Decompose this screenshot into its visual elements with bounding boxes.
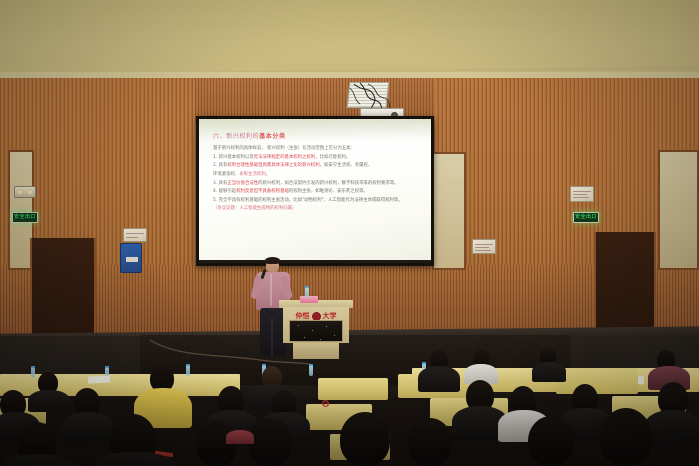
- paper-sheet: [88, 375, 110, 383]
- audience-head-foreground: [340, 412, 390, 466]
- water-bottle: [305, 286, 309, 298]
- exit-sign-right: 安全出口: [573, 212, 599, 223]
- seat-number-badge: 29: [322, 400, 329, 407]
- slide-line: 环境紧张权、表彰生活权利。: [213, 171, 421, 178]
- wall-notice-right: [570, 186, 594, 202]
- audience-shoulders: [28, 390, 70, 412]
- blue-wall-sign: [120, 243, 142, 273]
- emergency-lamp-bulb: [27, 189, 33, 195]
- projector-mount: [344, 82, 406, 118]
- audience-head-foreground: [528, 416, 574, 466]
- slide-line: 4. 能够引起权利反思但不具备权利基础的权利主张，如唯测论、安乐死之权等。: [213, 188, 421, 195]
- slide-line: 1. 新兴基本权利以及宪法法律规定的基本权利之权利，比如迁徙权利。: [213, 154, 421, 161]
- audience-head-foreground: [248, 418, 292, 466]
- door-center-right[interactable]: [432, 152, 466, 270]
- audience-head-foreground: [600, 408, 652, 466]
- water-bottle: [31, 366, 35, 378]
- emergency-light-left: [14, 186, 36, 198]
- slide-line: 2. 具有权利合理性基础但尚需具体法律之化的新兴权利，如安宁生活权、亲属权、: [213, 162, 421, 169]
- slide-line: 3. 具有正当价值合法性的新兴权利，如合法契约引发的新兴权利，数字科技带来的权利…: [213, 180, 421, 187]
- seat-row[interactable]: [318, 378, 388, 400]
- seat-row[interactable]: [556, 368, 638, 394]
- audience-shoulders: [62, 412, 114, 444]
- lectern-podium: 仲恺 大学: [283, 300, 349, 362]
- ceiling: [0, 0, 699, 78]
- wall-poster-left: [123, 228, 147, 242]
- water-bottle: [186, 364, 190, 376]
- exit-sign-left: 安全出口: [12, 212, 38, 223]
- podium-dark-panel: [289, 320, 343, 342]
- podium-text-right: 大学: [323, 313, 337, 320]
- lecture-hall-scene: 安全出口 安全出口: [0, 0, 699, 466]
- slide-title-highlight: 基本分类: [259, 133, 285, 140]
- water-bottle: [309, 364, 313, 376]
- audience-shoulders: [0, 454, 78, 466]
- audience-head-foreground: [408, 418, 452, 466]
- slide-title: 六、新兴权利的基本分类: [213, 131, 421, 140]
- pink-item-on-podium: [300, 296, 318, 303]
- speaker-hair: [265, 257, 280, 264]
- presentation-slide: 六、新兴权利的基本分类 基于新兴权利的具体样态， 新兴权利（主张）在活动范围上可…: [199, 119, 431, 260]
- projection-screen[interactable]: 六、新兴权利的基本分类 基于新兴权利的具体样态， 新兴权利（主张）在活动范围上可…: [199, 119, 431, 260]
- slide-line: 基于新兴权利的具体样态， 新兴权利（主张）在活动范围上可分为五类：: [213, 145, 421, 152]
- exit-sign-label: 安全出口: [14, 215, 36, 220]
- emergency-lamp-bulb: [17, 189, 23, 195]
- door-far-right[interactable]: [658, 150, 699, 270]
- podium-text-left: 仲恺: [296, 313, 310, 320]
- slide-line: 5. 完全不具有权利基础的权利主张活动，比如"动物权利"、人工智能作为法律主体或…: [213, 197, 421, 204]
- audience-shoulders: [644, 410, 699, 446]
- slide-body: 基于新兴权利的具体样态， 新兴权利（主张）在活动范围上可分为五类： 1. 新兴基…: [213, 145, 421, 213]
- exit-sign-label: 安全出口: [575, 215, 597, 220]
- audience-red-cap: [226, 430, 254, 444]
- audience-shoulders: [532, 362, 566, 382]
- podium-base: [293, 343, 339, 359]
- blue-sign-label-plate: [126, 257, 138, 262]
- slide-line: （争议议题：人工智能生成物的权利归属）: [213, 205, 421, 212]
- audience-shoulders: [418, 366, 460, 392]
- wall-poster-right: [472, 239, 496, 254]
